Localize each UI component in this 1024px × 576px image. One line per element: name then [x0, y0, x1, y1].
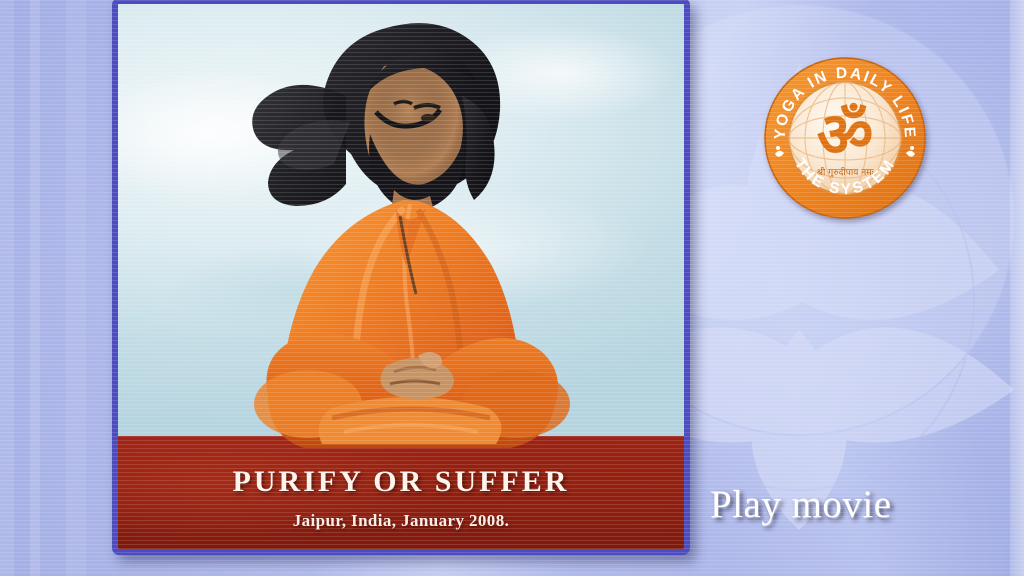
caption-subtitle: Jaipur, India, January 2008. [118, 511, 684, 531]
photo-caption: PURIFY OR SUFFER Jaipur, India, January … [118, 465, 684, 531]
background-side-bands [0, 0, 120, 576]
menu-item-play-movie[interactable]: Play movie [700, 480, 902, 529]
yoga-in-daily-life-logo: ॐ श्री गुरुदीपाय नमः YOGA IN DAILY LIFE … [763, 56, 927, 220]
cover-photo: PURIFY OR SUFFER Jaipur, India, January … [118, 4, 684, 549]
dvd-menu-screen: PURIFY OR SUFFER Jaipur, India, January … [0, 0, 1024, 576]
caption-title: PURIFY OR SUFFER [118, 465, 684, 499]
menu-list: Play movie [700, 470, 1020, 538]
om-symbol: ॐ [817, 98, 874, 171]
cover-photo-panel[interactable]: PURIFY OR SUFFER Jaipur, India, January … [112, 0, 690, 555]
